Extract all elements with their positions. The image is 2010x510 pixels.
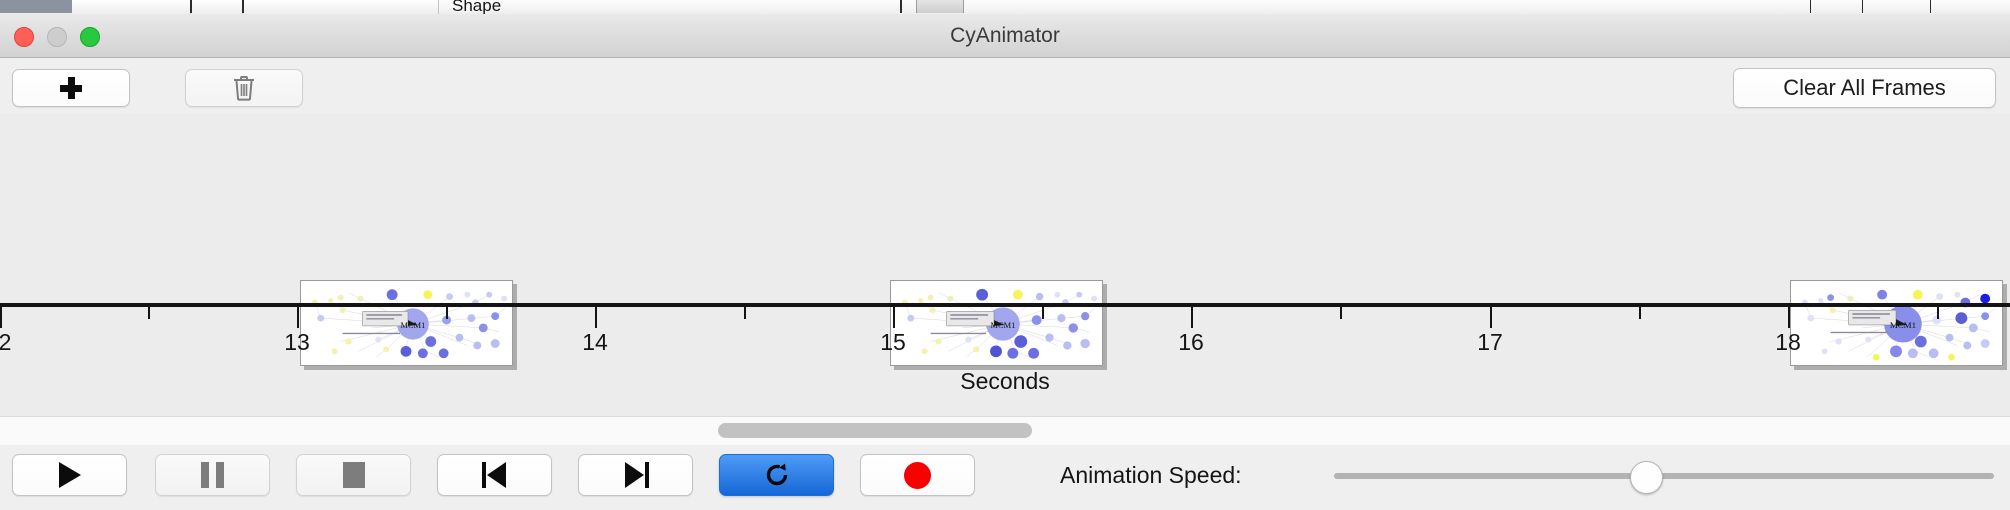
window-title: CyAnimator: [0, 14, 2010, 58]
background-divider: [1930, 0, 1931, 13]
minimize-button[interactable]: [47, 27, 67, 47]
axis-tick-label: 15: [880, 329, 906, 356]
background-column-header: Shape: [452, 0, 501, 15]
axis-tick-minor: [1639, 307, 1641, 319]
axis-tick-label: 16: [1178, 329, 1204, 356]
trash-icon: [232, 75, 256, 101]
frame-toolbar: Clear All Frames: [0, 58, 2010, 114]
background-cell: [72, 0, 149, 14]
plus-icon: [60, 77, 82, 99]
scrollbar-thumb[interactable]: [718, 423, 1032, 438]
skip-back-icon: [482, 462, 508, 488]
axis-tick-major: [893, 307, 895, 328]
axis-tick-minor: [148, 307, 150, 319]
svg-text:MCM1: MCM1: [991, 321, 1016, 330]
play-icon: [59, 462, 81, 488]
svg-text:MCM1: MCM1: [1890, 320, 1916, 330]
timeline-frame-thumbnail[interactable]: MCM1: [1790, 280, 2003, 366]
axis-tick-minor: [744, 307, 746, 319]
background-scroll-notch: [916, 0, 964, 13]
background-divider: [1862, 0, 1863, 13]
loop-button[interactable]: [719, 454, 834, 496]
pause-button[interactable]: [155, 454, 270, 496]
axis-tick-label: 14: [582, 329, 608, 356]
animation-speed-slider-knob[interactable]: [1630, 461, 1663, 494]
stop-icon: [343, 462, 365, 488]
record-button[interactable]: [860, 454, 975, 496]
background-divider: [1810, 0, 1811, 13]
background-cell: [192, 0, 243, 14]
axis-tick-minor: [1937, 307, 1939, 319]
axis-tick-major: [1191, 307, 1193, 328]
skip-forward-button[interactable]: [578, 454, 693, 496]
axis-tick-major: [595, 307, 597, 328]
timeline-axis-line: [0, 303, 2010, 307]
axis-tick-minor: [1042, 307, 1044, 319]
axis-tick-minor: [1340, 307, 1342, 319]
traffic-light-group: [14, 27, 100, 47]
playback-control-bar: Animation Speed:: [0, 445, 2010, 510]
timeline-frame-thumbnail[interactable]: MCM1: [890, 280, 1103, 366]
play-button[interactable]: [12, 454, 127, 496]
background-cell: [244, 0, 299, 14]
animation-speed-label: Animation Speed:: [1060, 454, 1242, 496]
background-cell: [148, 0, 191, 14]
axis-title: Seconds: [0, 368, 2010, 395]
background-cell: [298, 0, 439, 14]
axis-tick-major: [1490, 307, 1492, 328]
timeline-panel[interactable]: MCM1: [0, 113, 2010, 416]
clear-all-frames-button[interactable]: Clear All Frames: [1733, 68, 1996, 108]
axis-tick-major: [1788, 307, 1790, 328]
stop-button[interactable]: [296, 454, 411, 496]
title-bar[interactable]: CyAnimator: [0, 14, 2010, 58]
close-button[interactable]: [14, 27, 34, 47]
skip-forward-icon: [623, 462, 649, 488]
pause-icon: [201, 462, 224, 488]
axis-tick-label: 17: [1477, 329, 1503, 356]
axis-tick-major: [297, 307, 299, 328]
timeline-horizontal-scrollbar[interactable]: [0, 416, 2010, 446]
background-window-strip: Shape: [0, 0, 2010, 15]
axis-tick-minor: [446, 307, 448, 319]
add-frame-button[interactable]: [12, 69, 130, 107]
axis-tick-major: [0, 307, 2, 328]
network-thumbnail-image: MCM1: [1791, 281, 2002, 365]
background-divider: [900, 0, 902, 13]
skip-back-button[interactable]: [437, 454, 552, 496]
background-selected-cell: [0, 0, 72, 13]
animation-speed-slider[interactable]: [1334, 473, 1994, 479]
svg-text:MCM1: MCM1: [401, 321, 426, 330]
axis-tick-label: 18: [1775, 329, 1801, 356]
delete-frame-button[interactable]: [185, 69, 303, 107]
zoom-button[interactable]: [80, 27, 100, 47]
record-icon: [904, 462, 931, 489]
axis-tick-label: 13: [284, 329, 310, 356]
timeline-frame-thumbnail[interactable]: MCM1: [300, 280, 513, 366]
axis-tick-label: 2: [0, 329, 11, 356]
cyanimator-window: Shape CyAnimator Clear All Frames: [0, 0, 2010, 510]
network-thumbnail-image: MCM1: [891, 281, 1102, 365]
network-thumbnail-image: MCM1: [301, 281, 512, 365]
loop-icon: [762, 460, 792, 490]
